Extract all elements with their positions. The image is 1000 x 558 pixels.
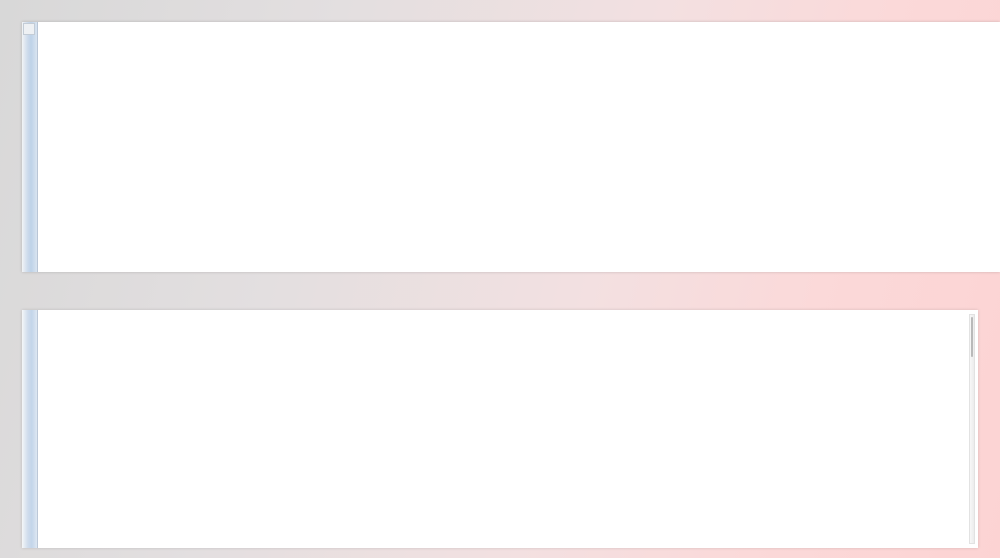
charts-row-entries: [38, 313, 978, 430]
charts-panel: [22, 310, 978, 548]
report-column-2: [359, 22, 680, 272]
charts-scrollbar[interactable]: [969, 314, 975, 544]
backtest-report-panel: [22, 22, 1000, 272]
close-icon[interactable]: [23, 23, 35, 35]
report-columns: [38, 22, 1000, 272]
report-column-3: [679, 22, 1000, 272]
report-panel-gutter: [22, 22, 38, 272]
charts-body: [38, 310, 978, 548]
charts-scrollbar-thumb[interactable]: [971, 317, 973, 357]
charts-panel-gutter: [22, 310, 38, 548]
charts-row-profits: [38, 430, 978, 547]
report-column-1: [38, 22, 359, 272]
banner-title: [0, 278, 1000, 310]
